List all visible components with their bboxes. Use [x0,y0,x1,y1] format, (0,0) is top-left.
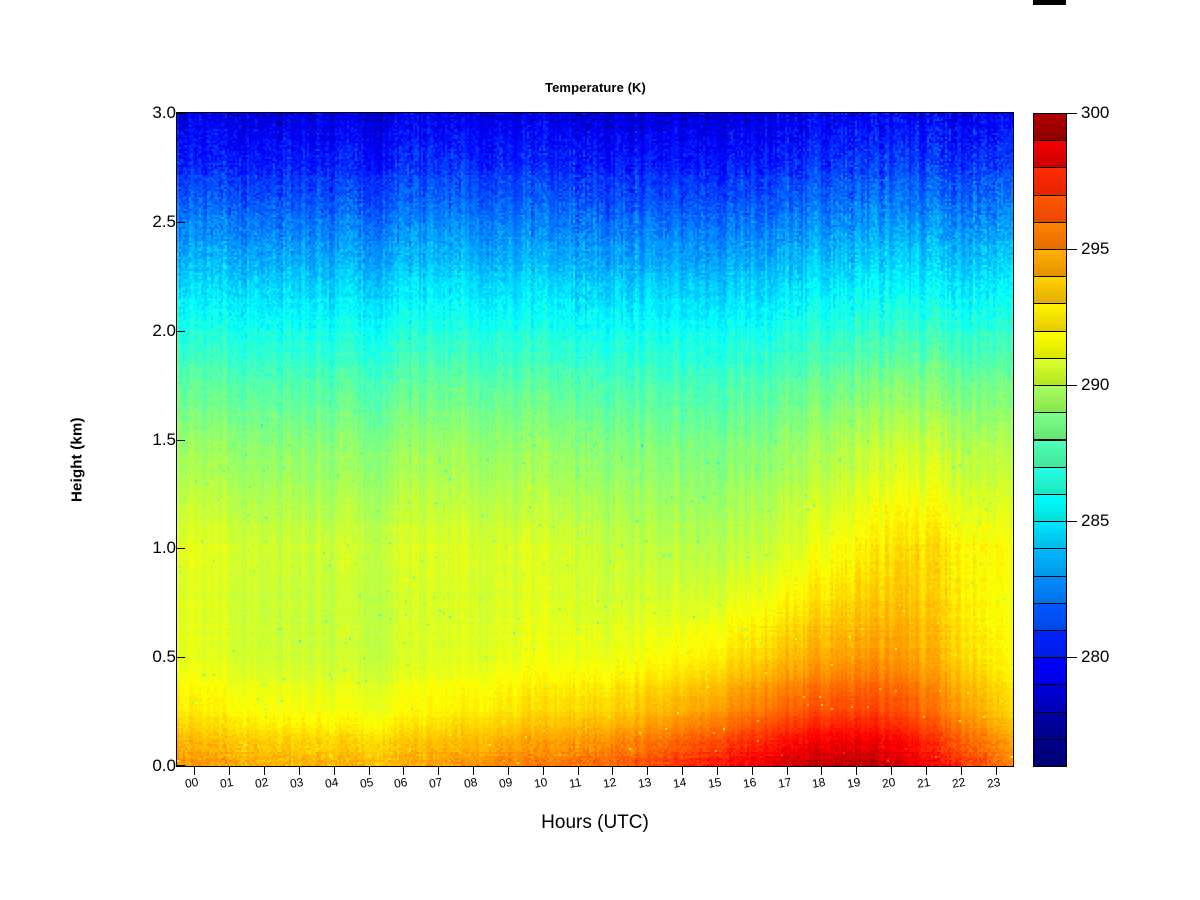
colorbar-tick-label: 290 [1081,375,1109,395]
colorbar-segment [1033,630,1067,658]
colorbar-segment [1033,739,1067,767]
colorbar-tick-label: 295 [1081,239,1109,259]
colorbar-segment [1033,440,1067,468]
x-tick-mark [891,766,892,775]
x-tick-label: 09 [498,775,513,791]
x-tick-mark [612,766,613,775]
colorbar-tick-mark [1067,657,1077,658]
x-tick-label: 18 [811,775,826,791]
x-tick-mark [856,766,857,775]
x-tick-mark [717,766,718,775]
x-tick-label: 06 [393,775,408,791]
x-tick-mark [403,766,404,775]
colorbar-segment [1033,358,1067,386]
colorbar-segment [1033,712,1067,740]
x-tick-mark [369,766,370,775]
x-tick-label: 03 [289,775,304,791]
y-tick-mark [176,440,185,441]
x-tick-mark [787,766,788,775]
colorbar-segment [1033,521,1067,549]
y-tick-mark [176,222,185,223]
colorbar-segment [1033,494,1067,522]
colorbar-tick-label: 285 [1081,511,1109,531]
colorbar-segment [1033,113,1067,141]
top-right-black-bar-artifact [1033,0,1066,5]
colorbar-segment [1033,657,1067,685]
y-axis-title: Height (km) [57,380,97,540]
heatmap-plot-area [177,113,1013,766]
x-tick-mark [752,766,753,775]
x-tick-label: 14 [672,775,687,791]
x-tick-label: 07 [428,775,443,791]
x-tick-label: 20 [881,775,896,791]
x-axis-title: Hours (UTC) [177,812,1013,834]
x-tick-label: 04 [324,775,339,791]
x-tick-label: 22 [951,775,966,791]
x-tick-mark [473,766,474,775]
x-tick-label: 17 [777,775,792,791]
heatmap-canvas [177,113,1013,766]
y-tick-mark [176,657,185,658]
y-tick-label: 0.0 [130,756,176,776]
x-tick-mark [647,766,648,775]
x-tick-mark [821,766,822,775]
y-tick-mark [176,331,185,332]
colorbar-segment [1033,467,1067,495]
x-tick-mark [543,766,544,775]
colorbar-segment [1033,385,1067,413]
colorbar-segment [1033,412,1067,440]
x-tick-mark [996,766,997,775]
colorbar-segment [1033,303,1067,331]
colorbar-tick-mark [1067,385,1077,386]
x-tick-label: 23 [986,775,1001,791]
colorbar-tick-label: 280 [1081,647,1109,667]
colorbar-segment [1033,603,1067,631]
y-axis-ticks: 0.00.51.01.52.02.53.0 [114,113,176,766]
x-tick-mark [264,766,265,775]
x-tick-label: 19 [846,775,861,791]
colorbar-tick-mark [1067,249,1077,250]
colorbar: 280285290295300 [1033,113,1067,766]
x-axis-ticks: 0001020304050607080910111213141516171819… [177,766,1013,806]
x-tick-mark [438,766,439,775]
colorbar-segment [1033,167,1067,195]
temperature-time-height-figure: Temperature (K) 0.00.51.01.52.02.53.0 He… [0,0,1200,900]
plot-title: Temperature (K) [177,80,1014,95]
y-tick-label: 3.0 [130,103,176,123]
colorbar-tick-label: 300 [1081,103,1109,123]
x-tick-mark [299,766,300,775]
x-tick-label: 05 [359,775,374,791]
x-tick-mark [229,766,230,775]
x-tick-mark [508,766,509,775]
x-tick-label: 15 [707,775,722,791]
y-tick-label: 1.5 [130,430,176,450]
colorbar-tick-mark [1067,113,1077,114]
colorbar-segment [1033,331,1067,359]
x-tick-mark [334,766,335,775]
colorbar-segment [1033,222,1067,250]
x-tick-label: 11 [568,775,583,791]
colorbar-segment [1033,195,1067,223]
x-tick-label: 01 [219,775,234,791]
colorbar-segment [1033,140,1067,168]
colorbar-segment [1033,249,1067,277]
y-tick-label: 2.5 [130,212,176,232]
x-tick-mark [682,766,683,775]
y-tick-label: 1.0 [130,538,176,558]
x-tick-label: 02 [254,775,269,791]
colorbar-segment [1033,548,1067,576]
colorbar-segment [1033,684,1067,712]
x-tick-label: 16 [742,775,757,791]
x-tick-mark [578,766,579,775]
y-tick-mark [176,548,185,549]
x-tick-label: 12 [602,775,617,791]
colorbar-tick-mark [1067,521,1077,522]
y-tick-mark [176,113,185,114]
colorbar-segment [1033,576,1067,604]
x-tick-label: 08 [463,775,478,791]
x-tick-label: 00 [184,775,199,791]
x-tick-label: 10 [533,775,548,791]
x-tick-mark [926,766,927,775]
y-tick-label: 2.0 [130,321,176,341]
x-tick-label: 21 [916,775,931,791]
y-tick-label: 0.5 [130,647,176,667]
x-tick-mark [194,766,195,775]
colorbar-segment [1033,276,1067,304]
x-tick-mark [961,766,962,775]
x-tick-label: 13 [637,775,652,791]
